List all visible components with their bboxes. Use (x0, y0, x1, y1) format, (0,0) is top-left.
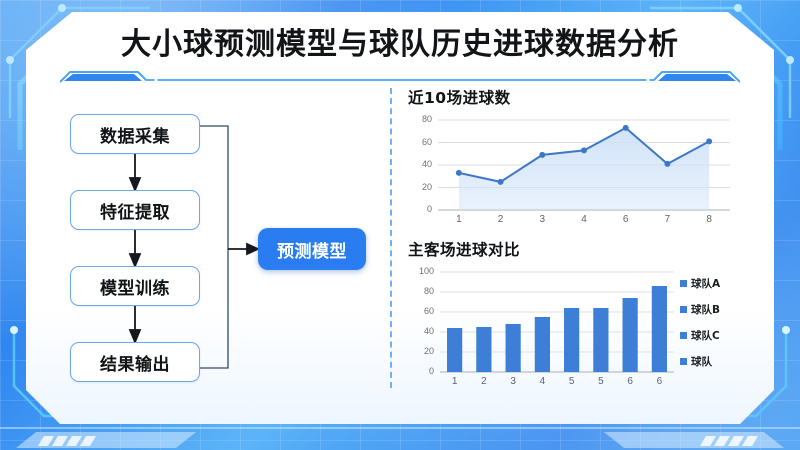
process-flowchart: 数据采集 特征提取 模型训练 结果输出 预测模型 (58, 106, 378, 391)
legend-label: 球队C (691, 328, 720, 343)
page-title: 大小球预测模型与球队历史进球数据分析 (0, 19, 800, 63)
legend-label: 球队A (691, 276, 720, 291)
flow-node-label: 模型训练 (100, 274, 170, 299)
legend-label: 球队B (691, 302, 720, 317)
y-axis-tick-label: 40 (408, 326, 434, 336)
flow-node-data-collection[interactable]: 数据采集 (70, 114, 200, 154)
y-axis-tick-label: 60 (408, 137, 432, 147)
x-axis-tick-label: 2 (490, 214, 512, 225)
legend-item[interactable]: 球队 (680, 354, 712, 369)
y-axis-tick-label: 100 (408, 266, 434, 276)
bar[interactable] (447, 328, 462, 372)
x-axis-tick-label: 7 (656, 214, 678, 225)
legend-label: 球队 (691, 354, 712, 369)
bar[interactable] (652, 286, 667, 372)
line-chart-title: 近10场进球数 (408, 86, 738, 108)
bar-chart-title: 主客场进球对比 (408, 238, 738, 260)
y-axis-tick-label: 0 (408, 366, 434, 376)
x-axis-tick-label: 5 (590, 376, 612, 387)
line-chart-plot: 0204060801234678 (408, 112, 738, 230)
x-axis-tick-label: 4 (573, 214, 595, 225)
x-axis-tick-label: 1 (448, 214, 470, 225)
bar[interactable] (506, 324, 521, 372)
x-axis-tick-label: 3 (502, 376, 524, 387)
line-chart-svg (408, 112, 738, 230)
line-chart-point[interactable] (706, 138, 712, 144)
line-chart-point[interactable] (664, 161, 670, 167)
y-axis-tick-label: 40 (408, 159, 432, 169)
flow-node-label: 预测模型 (277, 237, 347, 262)
legend-swatch-icon (680, 306, 687, 313)
bar[interactable] (564, 308, 579, 372)
bar[interactable] (593, 308, 608, 372)
line-chart-point[interactable] (539, 152, 545, 158)
line-chart-point[interactable] (581, 147, 587, 153)
y-axis-tick-label: 20 (408, 346, 434, 356)
x-axis-tick-label: 3 (531, 214, 553, 225)
x-axis-tick-label: 4 (531, 376, 553, 387)
legend-item[interactable]: 球队C (680, 328, 720, 343)
title-separator (60, 68, 740, 84)
line-chart-area (459, 128, 709, 210)
y-axis-tick-label: 80 (408, 114, 432, 124)
y-axis-tick-label: 0 (408, 204, 432, 214)
flow-node-feature-extraction[interactable]: 特征提取 (70, 190, 200, 230)
x-axis-tick-label: 6 (648, 376, 670, 387)
y-axis-tick-label: 80 (408, 286, 434, 296)
y-axis-tick-label: 20 (408, 182, 432, 192)
line-chart-point[interactable] (623, 125, 629, 131)
x-axis-tick-label: 8 (698, 214, 720, 225)
x-axis-tick-label: 6 (619, 376, 641, 387)
x-axis-tick-label: 6 (615, 214, 637, 225)
flow-node-label: 特征提取 (100, 198, 170, 223)
x-axis-tick-label: 1 (444, 376, 466, 387)
slide-canvas: 大小球预测模型与球队历史进球数据分析 (0, 0, 800, 450)
legend-swatch-icon (680, 332, 687, 339)
line-chart-point[interactable] (498, 179, 504, 185)
bar-chart-plot: 02040608010012345566球队A球队B球队C球队 (408, 264, 738, 392)
y-axis-tick-label: 60 (408, 306, 434, 316)
line-chart-point[interactable] (456, 170, 462, 176)
x-axis-tick-label: 2 (473, 376, 495, 387)
legend-swatch-icon (680, 358, 687, 365)
flow-node-label: 数据采集 (100, 122, 170, 147)
legend-swatch-icon (680, 280, 687, 287)
legend-item[interactable]: 球队B (680, 302, 720, 317)
bar[interactable] (535, 317, 550, 372)
bar[interactable] (623, 298, 638, 372)
legend-item[interactable]: 球队A (680, 276, 720, 291)
flow-node-prediction-model[interactable]: 预测模型 (258, 228, 366, 270)
flow-node-label: 结果输出 (100, 350, 170, 375)
bar-chart: 主客场进球对比 02040608010012345566球队A球队B球队C球队 (408, 238, 738, 390)
flow-node-result-output[interactable]: 结果输出 (70, 342, 200, 382)
flow-node-model-training[interactable]: 模型训练 (70, 266, 200, 306)
panel-divider (390, 88, 392, 388)
bar[interactable] (476, 327, 491, 372)
x-axis-tick-label: 5 (561, 376, 583, 387)
line-chart: 近10场进球数 0204060801234678 (408, 86, 738, 234)
